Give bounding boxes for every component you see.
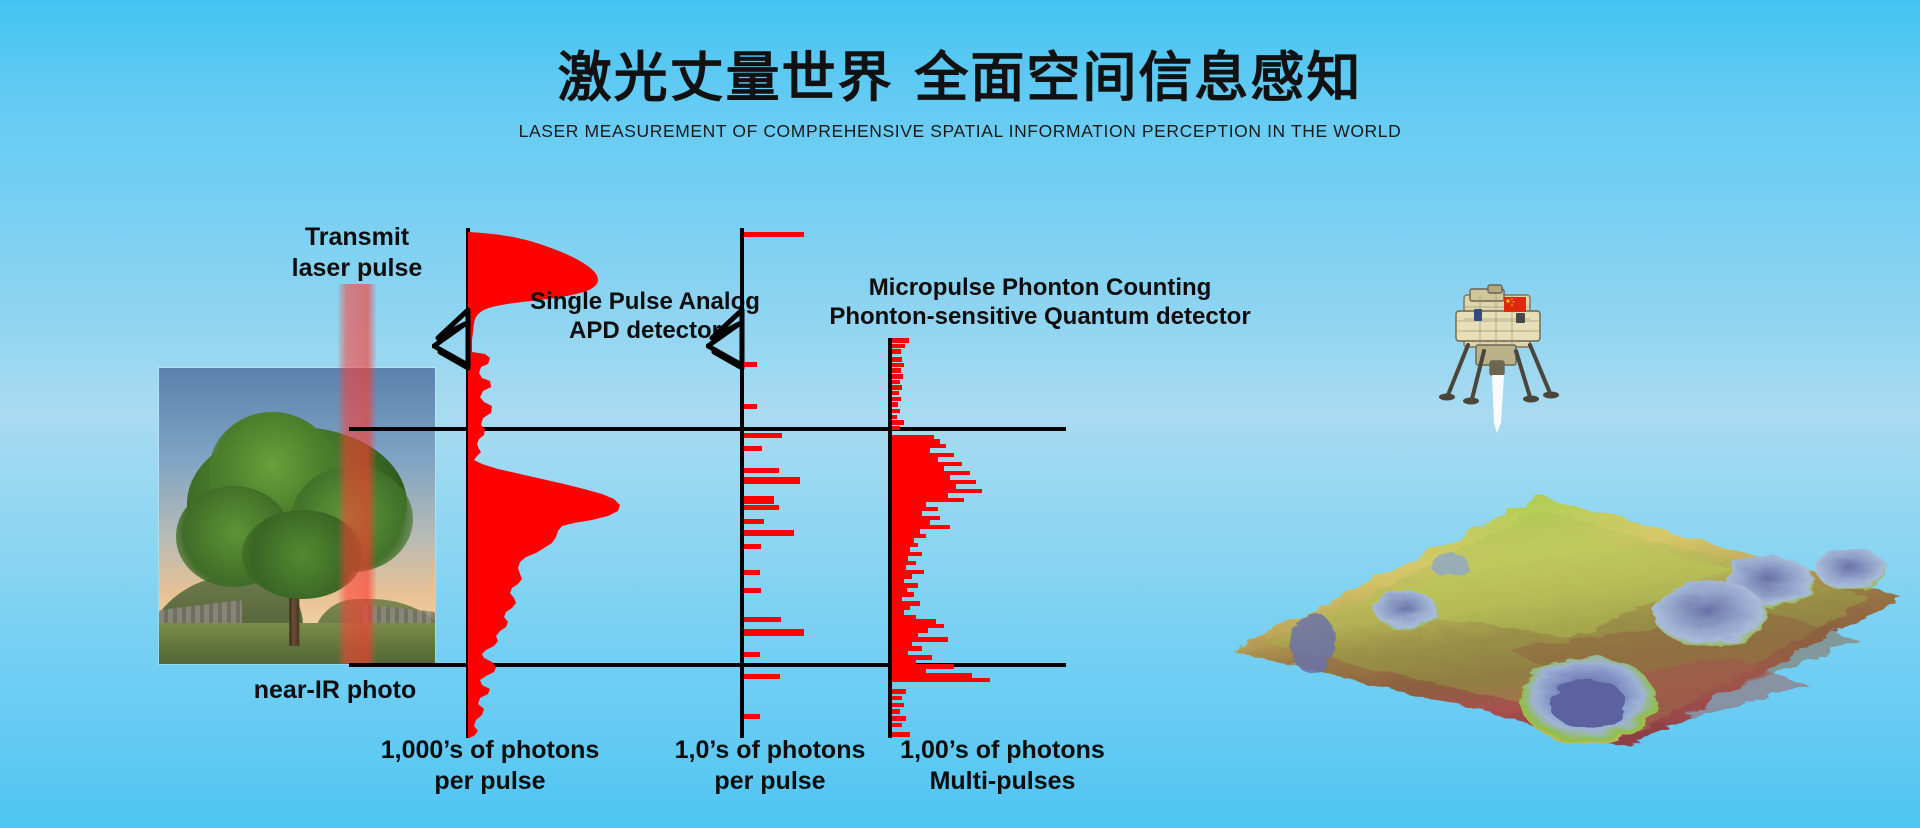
bar (892, 678, 990, 683)
bar (892, 368, 901, 373)
caption-2-line1: 1,0’s of photons (645, 735, 895, 766)
bar (892, 391, 899, 396)
bar (744, 652, 760, 657)
bar (892, 385, 902, 390)
label-transmit-laser-pulse: Transmit laser pulse (232, 222, 482, 283)
chinese-flag (1504, 297, 1526, 312)
bar (892, 426, 900, 431)
lander-descent-plume (1492, 375, 1504, 433)
bar (744, 232, 804, 237)
bar (744, 674, 780, 679)
terrain-surface (1210, 400, 1910, 760)
waveform-micropulse-photon-counting (888, 338, 1068, 738)
bar (744, 588, 761, 593)
bar (744, 477, 800, 484)
caption-3-line1: 1,00’s of photons (865, 735, 1140, 766)
transmit-laser-beam (338, 284, 376, 664)
bar (892, 689, 906, 694)
near-ir-photo (159, 368, 435, 664)
bar (892, 703, 904, 708)
bar (892, 338, 909, 343)
page-title: 激光丈量世界 全面空间信息感知 (0, 48, 1920, 107)
bar (892, 380, 900, 385)
lunar-lander (1434, 283, 1564, 433)
bar (892, 696, 902, 701)
lidar-terrain-model (1210, 400, 1910, 760)
page-subtitle: LASER MEASUREMENT OF COMPREHENSIVE SPATI… (0, 121, 1920, 142)
bar (892, 409, 900, 414)
bar (892, 716, 906, 721)
bar (744, 404, 757, 409)
caption-axis-3: 1,00’s of photons Multi-pulses (865, 735, 1140, 796)
bar (744, 617, 781, 622)
caption-axis-1: 1,000’s of photons per pulse (355, 735, 625, 796)
bar (744, 433, 782, 438)
caption-axis-2: 1,0’s of photons per pulse (645, 735, 895, 796)
bar (892, 415, 897, 420)
label-detector-micropulse: Micropulse Phonton Counting Phonton-sens… (770, 273, 1310, 332)
waveform-3-bars (892, 338, 1068, 738)
detector-2-line2: Phonton-sensitive Quantum detector (770, 302, 1310, 331)
caption-1-line1: 1,000’s of photons (355, 735, 625, 766)
bar (744, 629, 804, 636)
bar (892, 349, 901, 354)
bar (892, 374, 903, 379)
label-transmit-line1: Transmit (232, 222, 482, 253)
bar (744, 496, 774, 504)
bar (892, 420, 904, 425)
bar (892, 402, 898, 407)
bar (744, 714, 760, 719)
bar (892, 363, 904, 368)
header: 激光丈量世界 全面空间信息感知 LASER MEASUREMENT OF COM… (0, 0, 1920, 142)
bar (744, 468, 779, 473)
bar (892, 709, 900, 714)
bar (892, 344, 905, 349)
caption-1-line2: per pulse (355, 766, 625, 797)
bar (744, 362, 757, 367)
poster-canvas: 激光丈量世界 全面空间信息感知 LASER MEASUREMENT OF COM… (0, 0, 1920, 828)
bar (744, 519, 764, 524)
bar (892, 357, 902, 362)
label-near-ir-photo: near-IR photo (210, 675, 460, 706)
detector-2-line1: Micropulse Phonton Counting (770, 273, 1310, 302)
bar (744, 570, 760, 575)
bar (892, 723, 902, 728)
waveform-2-axis-break-icon (706, 302, 776, 374)
label-transmit-line2: laser pulse (232, 253, 482, 284)
caption-2-line2: per pulse (645, 766, 895, 797)
lander-body (1434, 283, 1564, 433)
bar (744, 505, 779, 510)
bar (744, 446, 762, 451)
bar (892, 397, 901, 402)
bar (744, 544, 761, 549)
caption-3-line2: Multi-pulses (865, 766, 1140, 797)
bar (744, 530, 794, 536)
